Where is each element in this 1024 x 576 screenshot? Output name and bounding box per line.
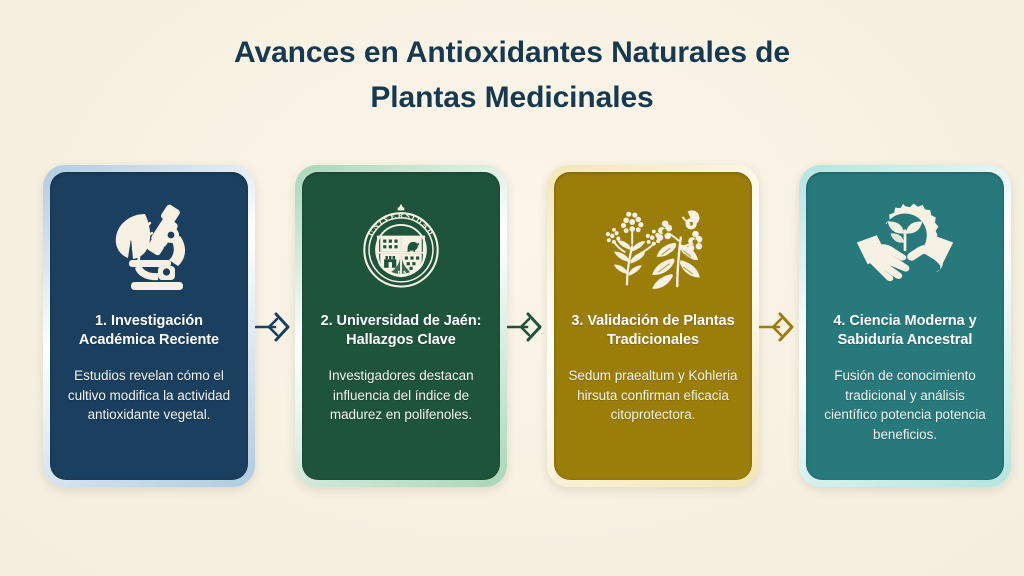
infographic-canvas: Avances en Antioxidantes Naturales de Pl… — [0, 0, 1024, 576]
step-card-2-heading: 2. Universidad de Jaén: Hallazgos Clave — [313, 312, 489, 350]
handshake-gear-leaf-icon — [853, 198, 957, 298]
step-card-3-body: Sedum praealtum y Kohleria hirsuta confi… — [565, 366, 741, 425]
step-card-2[interactable]: UNIVERSIDAD DE JAÉN — [295, 165, 507, 487]
step-card-4[interactable]: 4. Ciencia Moderna y Sabiduría Ancestral… — [799, 165, 1011, 487]
process-steps-row: 1. Investigación Académica Reciente Estu… — [43, 165, 981, 487]
universidad-de-jaen-seal-icon: UNIVERSIDAD DE JAÉN — [349, 198, 453, 298]
step-card-1-body: Estudios revelan cómo el cultivo modific… — [61, 366, 237, 425]
step-card-3[interactable]: 3. Validación de Plantas Tradicionales S… — [547, 165, 759, 487]
page-title: Avances en Antioxidantes Naturales de Pl… — [0, 30, 1024, 120]
step-card-1[interactable]: 1. Investigación Académica Reciente Estu… — [43, 165, 255, 487]
step-card-1-heading: 1. Investigación Académica Reciente — [61, 312, 237, 350]
step-card-3-heading: 3. Validación de Plantas Tradicionales — [565, 312, 741, 350]
arrow-1-to-2 — [255, 165, 295, 487]
medicinal-plants-icon — [601, 198, 705, 298]
page-title-line-2: Plantas Medicinales — [0, 75, 1024, 120]
step-card-2-body: Investigadores destacan influencia del í… — [313, 366, 489, 425]
arrow-3-to-4 — [759, 165, 799, 487]
arrow-2-to-3 — [507, 165, 547, 487]
page-title-line-1: Avances en Antioxidantes Naturales de — [0, 30, 1024, 75]
step-card-4-heading: 4. Ciencia Moderna y Sabiduría Ancestral — [817, 312, 993, 350]
step-card-4-body: Fusión de conocimiento tradicional y aná… — [817, 366, 993, 444]
microscope-leaf-icon — [97, 198, 201, 298]
